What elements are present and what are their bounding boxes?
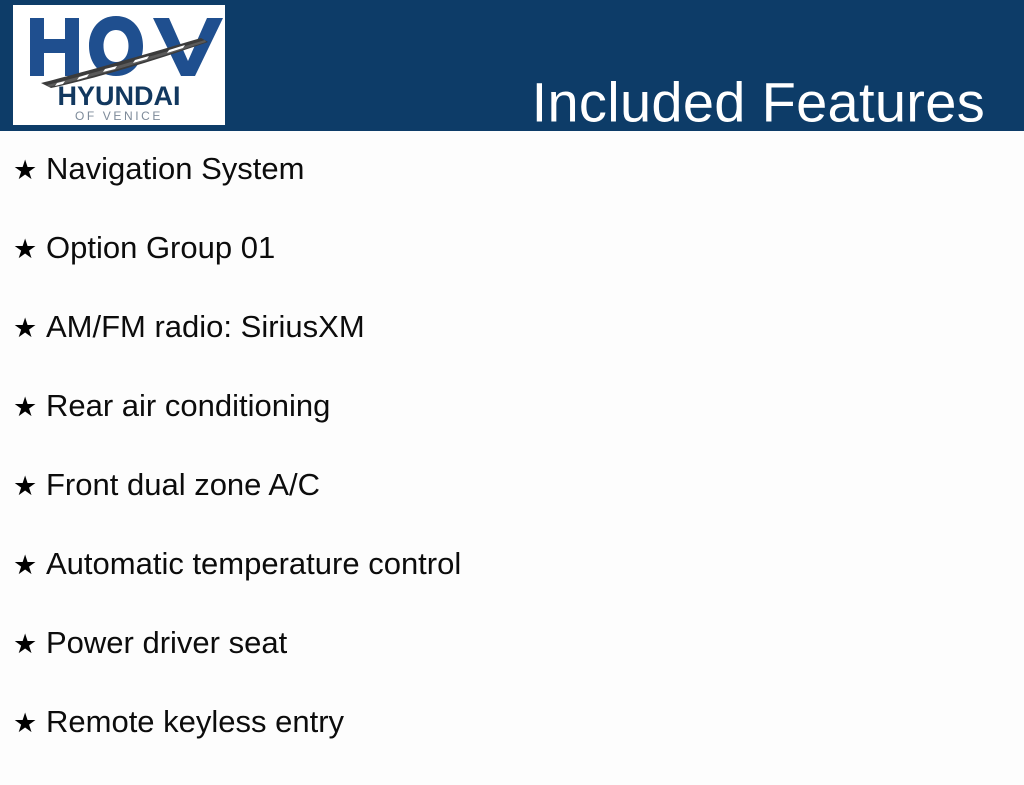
logo-locality-text: OF VENICE: [75, 109, 163, 123]
header-banner: HYUNDAI OF VENICE Included Features: [0, 0, 1024, 131]
logo-brand-text: HYUNDAI: [57, 81, 180, 111]
list-item: ★ Option Group 01: [0, 232, 1024, 311]
star-bullet-icon: ★: [13, 236, 46, 263]
page-title: Included Features: [532, 74, 985, 133]
list-item: ★ Automatic temperature control: [0, 548, 1024, 627]
slide: HYUNDAI OF VENICE Included Features ★ Na…: [0, 0, 1024, 768]
star-bullet-icon: ★: [13, 710, 46, 737]
feature-label: Power driver seat: [46, 627, 287, 658]
hov-hyundai-of-venice-logo-icon: HYUNDAI OF VENICE: [13, 5, 225, 125]
star-bullet-icon: ★: [13, 473, 46, 500]
star-bullet-icon: ★: [13, 631, 46, 658]
list-item: ★ Rear air conditioning: [0, 390, 1024, 469]
star-bullet-icon: ★: [13, 552, 46, 579]
feature-label: Rear air conditioning: [46, 390, 330, 421]
feature-label: AM/FM radio: SiriusXM: [46, 311, 365, 342]
included-features-list: ★ Navigation System ★ Option Group 01 ★ …: [0, 131, 1024, 768]
list-item: ★ Power driver seat: [0, 627, 1024, 706]
logo-box: HYUNDAI OF VENICE: [13, 5, 225, 125]
list-item: ★ Front dual zone A/C: [0, 469, 1024, 548]
feature-label: Front dual zone A/C: [46, 469, 320, 500]
star-bullet-icon: ★: [13, 394, 46, 421]
star-bullet-icon: ★: [13, 315, 46, 342]
feature-label: Automatic temperature control: [46, 548, 461, 579]
list-item: ★ Remote keyless entry: [0, 706, 1024, 785]
list-item: ★ AM/FM radio: SiriusXM: [0, 311, 1024, 390]
feature-label: Remote keyless entry: [46, 706, 344, 737]
feature-label: Navigation System: [46, 153, 304, 184]
list-item: ★ Navigation System: [0, 153, 1024, 232]
star-bullet-icon: ★: [13, 157, 46, 184]
feature-label: Option Group 01: [46, 232, 275, 263]
